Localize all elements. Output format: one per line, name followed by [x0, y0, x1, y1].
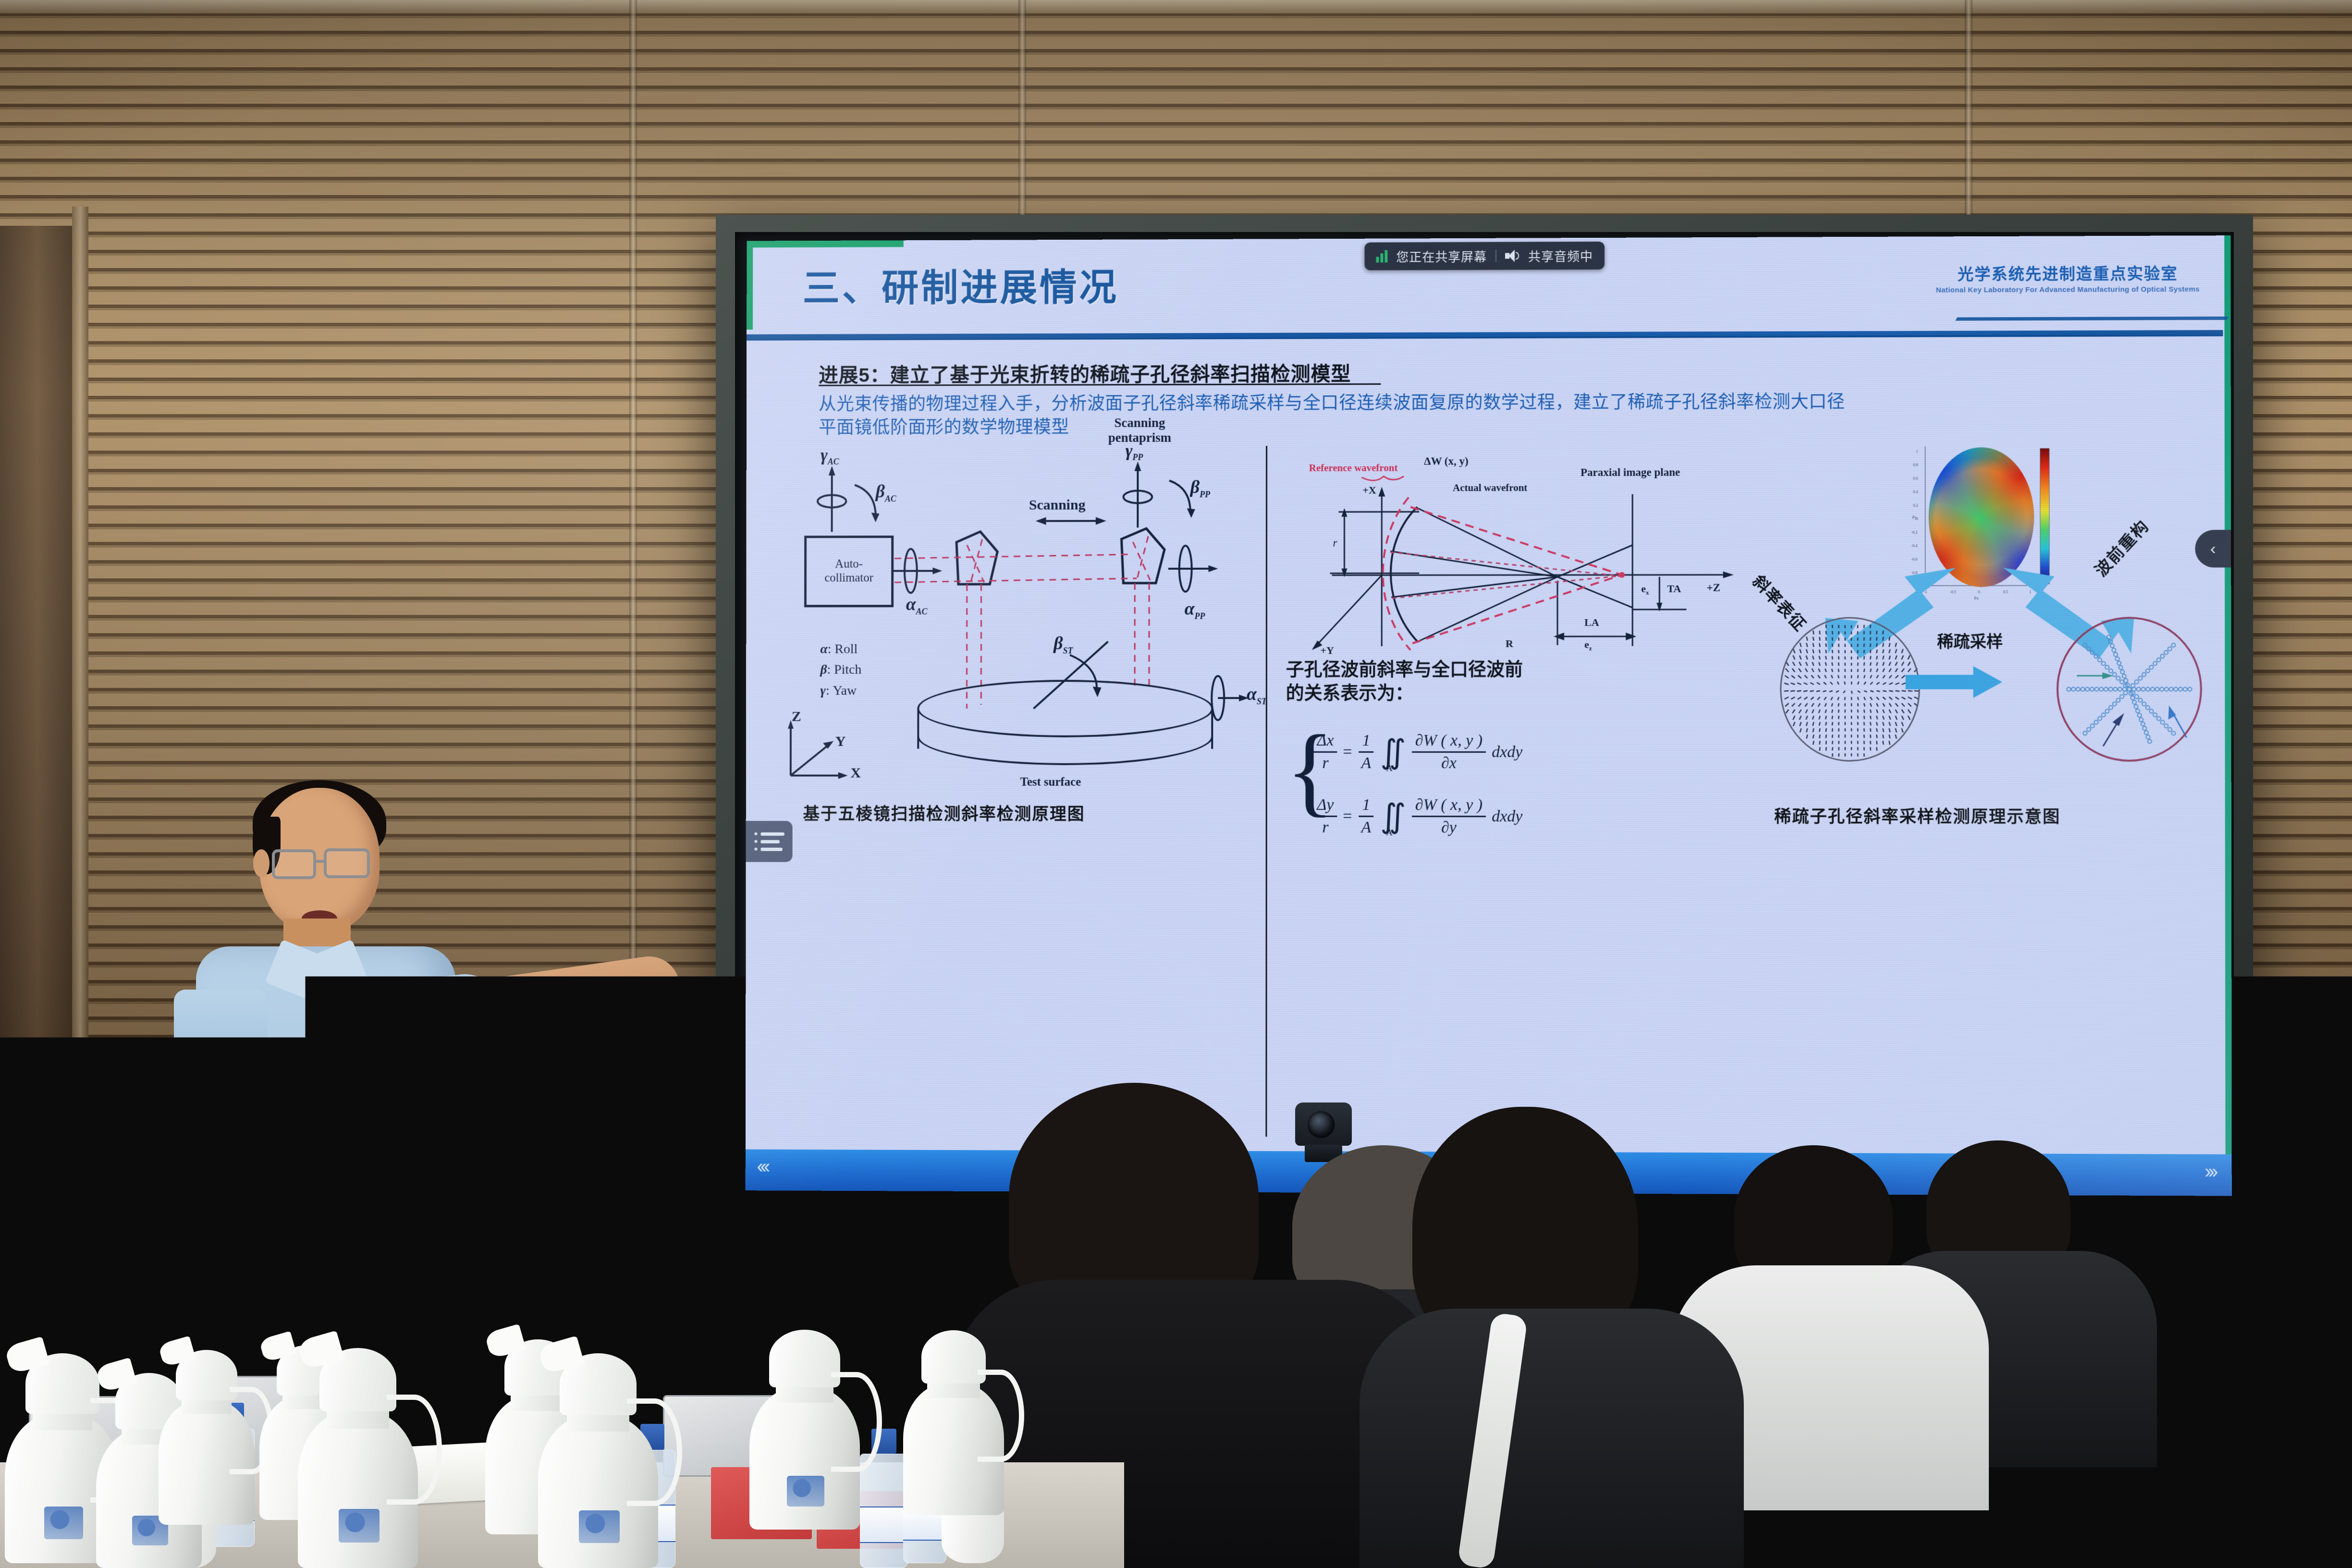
- ytick-1: 0.8: [1913, 463, 1918, 467]
- label-alpha-pp: αPP: [1185, 599, 1205, 622]
- label-test-surface: Test surface: [1020, 776, 1081, 789]
- legend-angles: α: Roll β: Pitch γ: Yaw: [820, 639, 861, 701]
- label-beta-ac: βAC: [876, 481, 896, 503]
- label-ta: TA: [1667, 583, 1681, 595]
- legend-sym-pitch: β: [820, 662, 827, 677]
- slide-paragraph: 从光束传播的物理过程入手，分析波面子孔径斜率稀疏采样与全口径连续波面复原的数学过…: [819, 390, 1858, 439]
- chair: [2181, 1309, 2340, 1510]
- autocollimator-label: Auto- collimator: [824, 558, 873, 585]
- label-gamma-ac: γAC: [821, 445, 839, 467]
- eq1-tail: dxdy: [1492, 743, 1522, 761]
- lab-name-en: National Key Laboratory For Advanced Man…: [1936, 285, 2200, 294]
- slide-canvas[interactable]: 三、研制进展情况 光学系统先进制造重点实验室 National Key Labo…: [746, 235, 2232, 1196]
- cup: [942, 1510, 1004, 1563]
- display-screen[interactable]: 三、研制进展情况 光学系统先进制造重点实验室 National Key Labo…: [746, 235, 2232, 1196]
- test-surface-cylinder: [917, 680, 1213, 769]
- ytick-0: 1: [1916, 449, 1918, 453]
- label-beta-pp: βPP: [1190, 477, 1210, 500]
- slide-headline: 进展5：建立了基于光束折转的稀疏子孔径斜率扫描检测模型: [819, 357, 1351, 388]
- label-plus-z: +Z: [1707, 582, 1721, 594]
- figure-divider: [1265, 446, 1267, 1137]
- eq1-frac-den: ∂x: [1438, 753, 1460, 772]
- thermos-flask: [298, 1357, 418, 1568]
- label-capital-r: R: [1506, 637, 1513, 650]
- eq1-integral: ∬A: [1380, 733, 1406, 771]
- eq2-integral: ∬A: [1380, 797, 1406, 835]
- eq1-lhs-num: Δx: [1314, 732, 1337, 753]
- eq2-frac-num: ∂W ( x, y ): [1412, 796, 1486, 817]
- ytick-3: 0.4: [1913, 490, 1918, 494]
- list-menu-icon[interactable]: [746, 821, 793, 862]
- shirt-pocket: [341, 1038, 399, 1086]
- sharing-screen-label: 您正在共享屏幕: [1396, 247, 1487, 265]
- eq2-frac-den: ∂y: [1438, 817, 1460, 837]
- thermos-flask: [159, 1357, 255, 1525]
- axis-label-y: Y: [835, 734, 845, 750]
- eq1-equals: =: [1343, 743, 1352, 761]
- thermos-flask: [749, 1337, 860, 1530]
- eq1-coef-den: A: [1358, 753, 1375, 772]
- equation-dy: Δyr = 1A ∬A ∂W ( x, y )∂y dxdy: [1313, 796, 1522, 837]
- thermos-flask: [903, 1337, 1004, 1515]
- eq2-coef-den: A: [1358, 817, 1374, 837]
- lab-name-cn: 光学系统先进制造重点实验室: [1936, 261, 2200, 285]
- colormap-xlabel: Px: [1974, 596, 1979, 600]
- lab-branding: 光学系统先进制造重点实验室 National Key Laboratory Fo…: [1936, 261, 2200, 294]
- legend-sym-yaw: γ: [820, 683, 826, 698]
- conference-table: [0, 1347, 1105, 1568]
- eq1-frac-num: ∂W ( x, y ): [1412, 732, 1486, 753]
- legend-text-yaw: : Yaw: [826, 683, 857, 698]
- next-slide-button[interactable]: ›››: [2205, 1161, 2215, 1183]
- legend-sym-roll: α: [821, 642, 828, 657]
- colormap-ylabel: Py: [1912, 515, 1917, 520]
- eq1-lhs-den: r: [1319, 753, 1332, 772]
- label-plus-x: +X: [1362, 484, 1376, 497]
- equation-dx: Δxr = 1A ∬A ∂W ( x, y )∂x dxdy: [1313, 732, 1522, 772]
- label-actual-wavefront: Actual wavefront: [1453, 482, 1527, 494]
- formula-intro-text: 子孔径波前斜率与全口径波前的关系表示为：: [1286, 658, 1535, 706]
- label-reference-wavefront: Reference wavefront: [1309, 462, 1398, 474]
- label-scanning: Scanning: [1029, 497, 1086, 514]
- axis-label-x: X: [851, 765, 861, 782]
- ytick-4: 0.2: [1913, 503, 1918, 508]
- autocollimator-box: Auto- collimator: [804, 536, 894, 607]
- label-la: LA: [1584, 616, 1599, 629]
- legend-text-roll: : Roll: [828, 642, 857, 657]
- belt-buckle: [312, 1301, 343, 1322]
- ytick-7: -0.4: [1911, 544, 1918, 548]
- xtick-2: 0: [1978, 590, 1980, 594]
- eq2-tail: dxdy: [1492, 808, 1522, 826]
- screen-share-bar[interactable]: 您正在共享屏幕 共享音频中: [1365, 242, 1605, 270]
- arrow-sparse-sampling: [1906, 665, 2002, 699]
- prev-slide-button[interactable]: ‹‹‹: [757, 1156, 767, 1178]
- figure-wavefront-aberration: Reference wavefront ΔW (x, y) Actual wav…: [1280, 439, 1751, 1150]
- slide-accent-left: [747, 241, 753, 330]
- shirt-placket: [312, 980, 317, 1307]
- label-plus-y: +Y: [1321, 644, 1334, 657]
- sharing-audio-label: 共享音频中: [1528, 246, 1593, 264]
- conference-room: asset-qr-sticker 三、研制进展情况 光学系统先进制造重点实验室 …: [0, 0, 2352, 1568]
- label-ex: ex: [1641, 583, 1649, 597]
- eq2-coef-num: 1: [1359, 796, 1373, 817]
- slide-accent-top: [747, 240, 903, 247]
- label-alpha-ac: αAC: [906, 594, 928, 616]
- audience-member: [1360, 1107, 1744, 1568]
- thermos-flask: [538, 1361, 658, 1568]
- figure-right-caption: 稀疏子孔径斜率采样检测原理示意图: [1774, 803, 2060, 828]
- label-delta-w: ΔW (x, y): [1424, 455, 1468, 467]
- chevron-left-icon[interactable]: ‹: [2195, 530, 2231, 567]
- label-beta-st: βST: [1053, 633, 1073, 656]
- ytick-6: -0.2: [1911, 530, 1917, 535]
- wavefront-diagram: Reference wavefront ΔW (x, y) Actual wav…: [1280, 444, 1751, 651]
- legend-text-pitch: : Pitch: [827, 662, 862, 677]
- eq2-lhs-num: Δy: [1313, 796, 1337, 817]
- glasses-icon: [272, 849, 316, 879]
- eq1-coef-num: 1: [1359, 732, 1373, 753]
- label-scanning-pentaprism: Scanning pentaprism: [1108, 416, 1171, 445]
- wavefront-svg: [1280, 444, 1751, 651]
- signal-bars-icon: [1376, 250, 1387, 263]
- eq2-lhs-den: r: [1319, 817, 1332, 837]
- speaker-icon: [1505, 250, 1519, 262]
- figure-pentaprism-scan: Auto- collimator γAC βAC αAC γPP: [774, 440, 1261, 1148]
- presenter-ear: [253, 849, 269, 877]
- label-alpha-st: αST: [1247, 684, 1267, 707]
- figure-sparse-sampling: 1 0.8 0.6 0.4 0.2 0 -0.2 -0.4 -0.6 -0.8 …: [1761, 438, 2217, 1151]
- eq2-equals: =: [1343, 807, 1352, 825]
- axis-label-z: Z: [792, 709, 801, 725]
- label-ez: ez: [1584, 638, 1592, 652]
- figure-left-caption: 基于五棱镜扫描检测斜率检测原理图: [803, 800, 1085, 825]
- glasses-bridge: [314, 860, 327, 863]
- label-sparse-sampling: 稀疏采样: [1937, 628, 2003, 652]
- share-divider: [1495, 250, 1496, 262]
- slide-section-title: 三、研制进展情况: [803, 257, 1119, 312]
- glasses-lens-right: [324, 848, 370, 878]
- label-paraxial-image-plane: Paraxial image plane: [1580, 466, 1680, 478]
- presentation-display[interactable]: asset-qr-sticker 三、研制进展情况 光学系统先进制造重点实验室 …: [716, 215, 2253, 1252]
- label-r: r: [1333, 537, 1337, 550]
- sparse-sampling-pattern: [2057, 617, 2202, 762]
- ytick-2: 0.6: [1913, 477, 1918, 481]
- slide-figures: Auto- collimator γAC βAC αAC γPP: [746, 438, 2232, 1151]
- dense-slope-field: [1780, 617, 1920, 761]
